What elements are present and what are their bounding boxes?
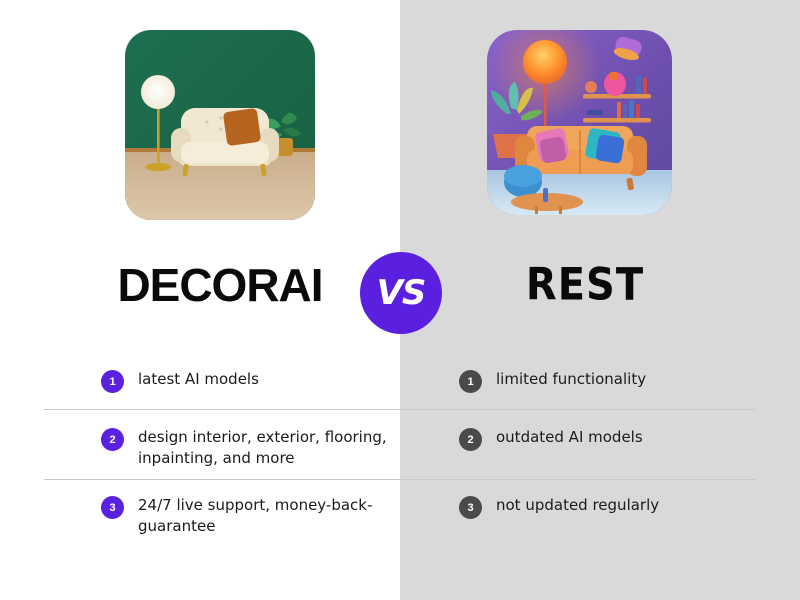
left-product-title: DECORAI (40, 258, 400, 312)
left-feature-row-2: 2 design interior, exterior, flooring, i… (101, 427, 401, 469)
right-feature-row-1: 1 limited functionality (459, 369, 759, 393)
left-feature-row-1: 1 latest AI models (101, 369, 401, 393)
right-feature-text-1: limited functionality (496, 369, 646, 390)
vs-badge: VS (360, 252, 442, 334)
right-product-title: REST (420, 259, 750, 311)
left-feature-text-2: design interior, exterior, flooring, inp… (138, 427, 401, 469)
decorai-room-image (125, 30, 315, 220)
left-feature-row-3: 3 24/7 live support, money-back-guarante… (101, 495, 401, 537)
left-feature-text-1: latest AI models (138, 369, 259, 390)
rest-room-image (487, 30, 672, 215)
feature-divider-1 (44, 409, 756, 410)
vs-label: VS (377, 273, 426, 313)
right-feature-row-3: 3 not updated regularly (459, 495, 759, 519)
right-feature-text-2: outdated AI models (496, 427, 643, 448)
left-feature-badge-3: 3 (101, 496, 124, 519)
right-feature-badge-3: 3 (459, 496, 482, 519)
right-feature-badge-2: 2 (459, 428, 482, 451)
left-feature-badge-2: 2 (101, 428, 124, 451)
right-feature-badge-1: 1 (459, 370, 482, 393)
right-feature-text-3: not updated regularly (496, 495, 659, 516)
left-feature-badge-1: 1 (101, 370, 124, 393)
left-feature-text-3: 24/7 live support, money-back-guarantee (138, 495, 401, 537)
right-feature-row-2: 2 outdated AI models (459, 427, 759, 451)
comparison-infographic: DECORAI REST VS 1 latest AI models 2 des… (0, 0, 800, 600)
feature-divider-2 (44, 479, 756, 480)
